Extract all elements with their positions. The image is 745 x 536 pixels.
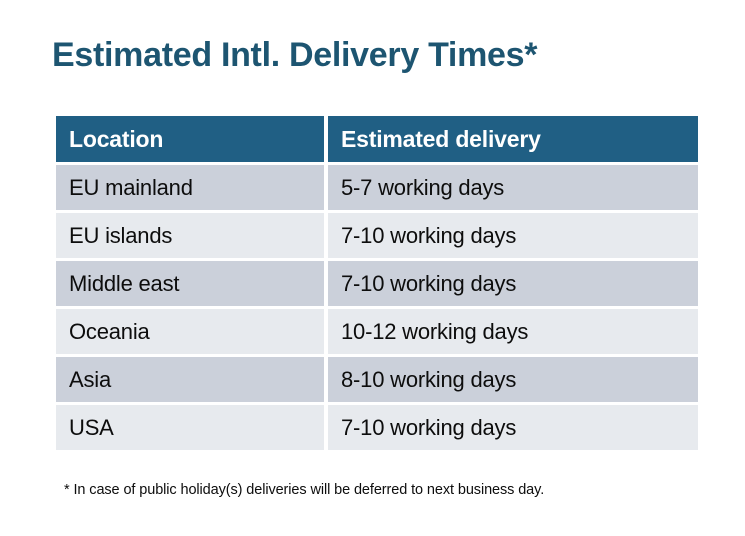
table-header: Location Estimated delivery [56,116,698,162]
cell-location: Oceania [56,309,324,354]
table-row: EU mainland 5-7 working days [56,165,698,210]
table-row: Asia 8-10 working days [56,357,698,402]
cell-estimate: 7-10 working days [328,405,698,450]
cell-estimate: 5-7 working days [328,165,698,210]
cell-estimate: 10-12 working days [328,309,698,354]
table-row: USA 7-10 working days [56,405,698,450]
delivery-times-table: Location Estimated delivery EU mainland … [52,113,702,453]
footnote-text: * In case of public holiday(s) deliverie… [64,480,544,500]
table-row: Middle east 7-10 working days [56,261,698,306]
table-header-row: Location Estimated delivery [56,116,698,162]
cell-location: EU mainland [56,165,324,210]
table-body: EU mainland 5-7 working days EU islands … [56,165,698,450]
column-header-estimated-delivery: Estimated delivery [328,116,698,162]
cell-location: Middle east [56,261,324,306]
cell-location: Asia [56,357,324,402]
column-header-location: Location [56,116,324,162]
cell-estimate: 7-10 working days [328,261,698,306]
delivery-times-page: Estimated Intl. Delivery Times* Location… [0,0,745,536]
page-title: Estimated Intl. Delivery Times* [52,34,537,76]
cell-location: EU islands [56,213,324,258]
cell-estimate: 8-10 working days [328,357,698,402]
cell-location: USA [56,405,324,450]
table-row: EU islands 7-10 working days [56,213,698,258]
table-row: Oceania 10-12 working days [56,309,698,354]
cell-estimate: 7-10 working days [328,213,698,258]
